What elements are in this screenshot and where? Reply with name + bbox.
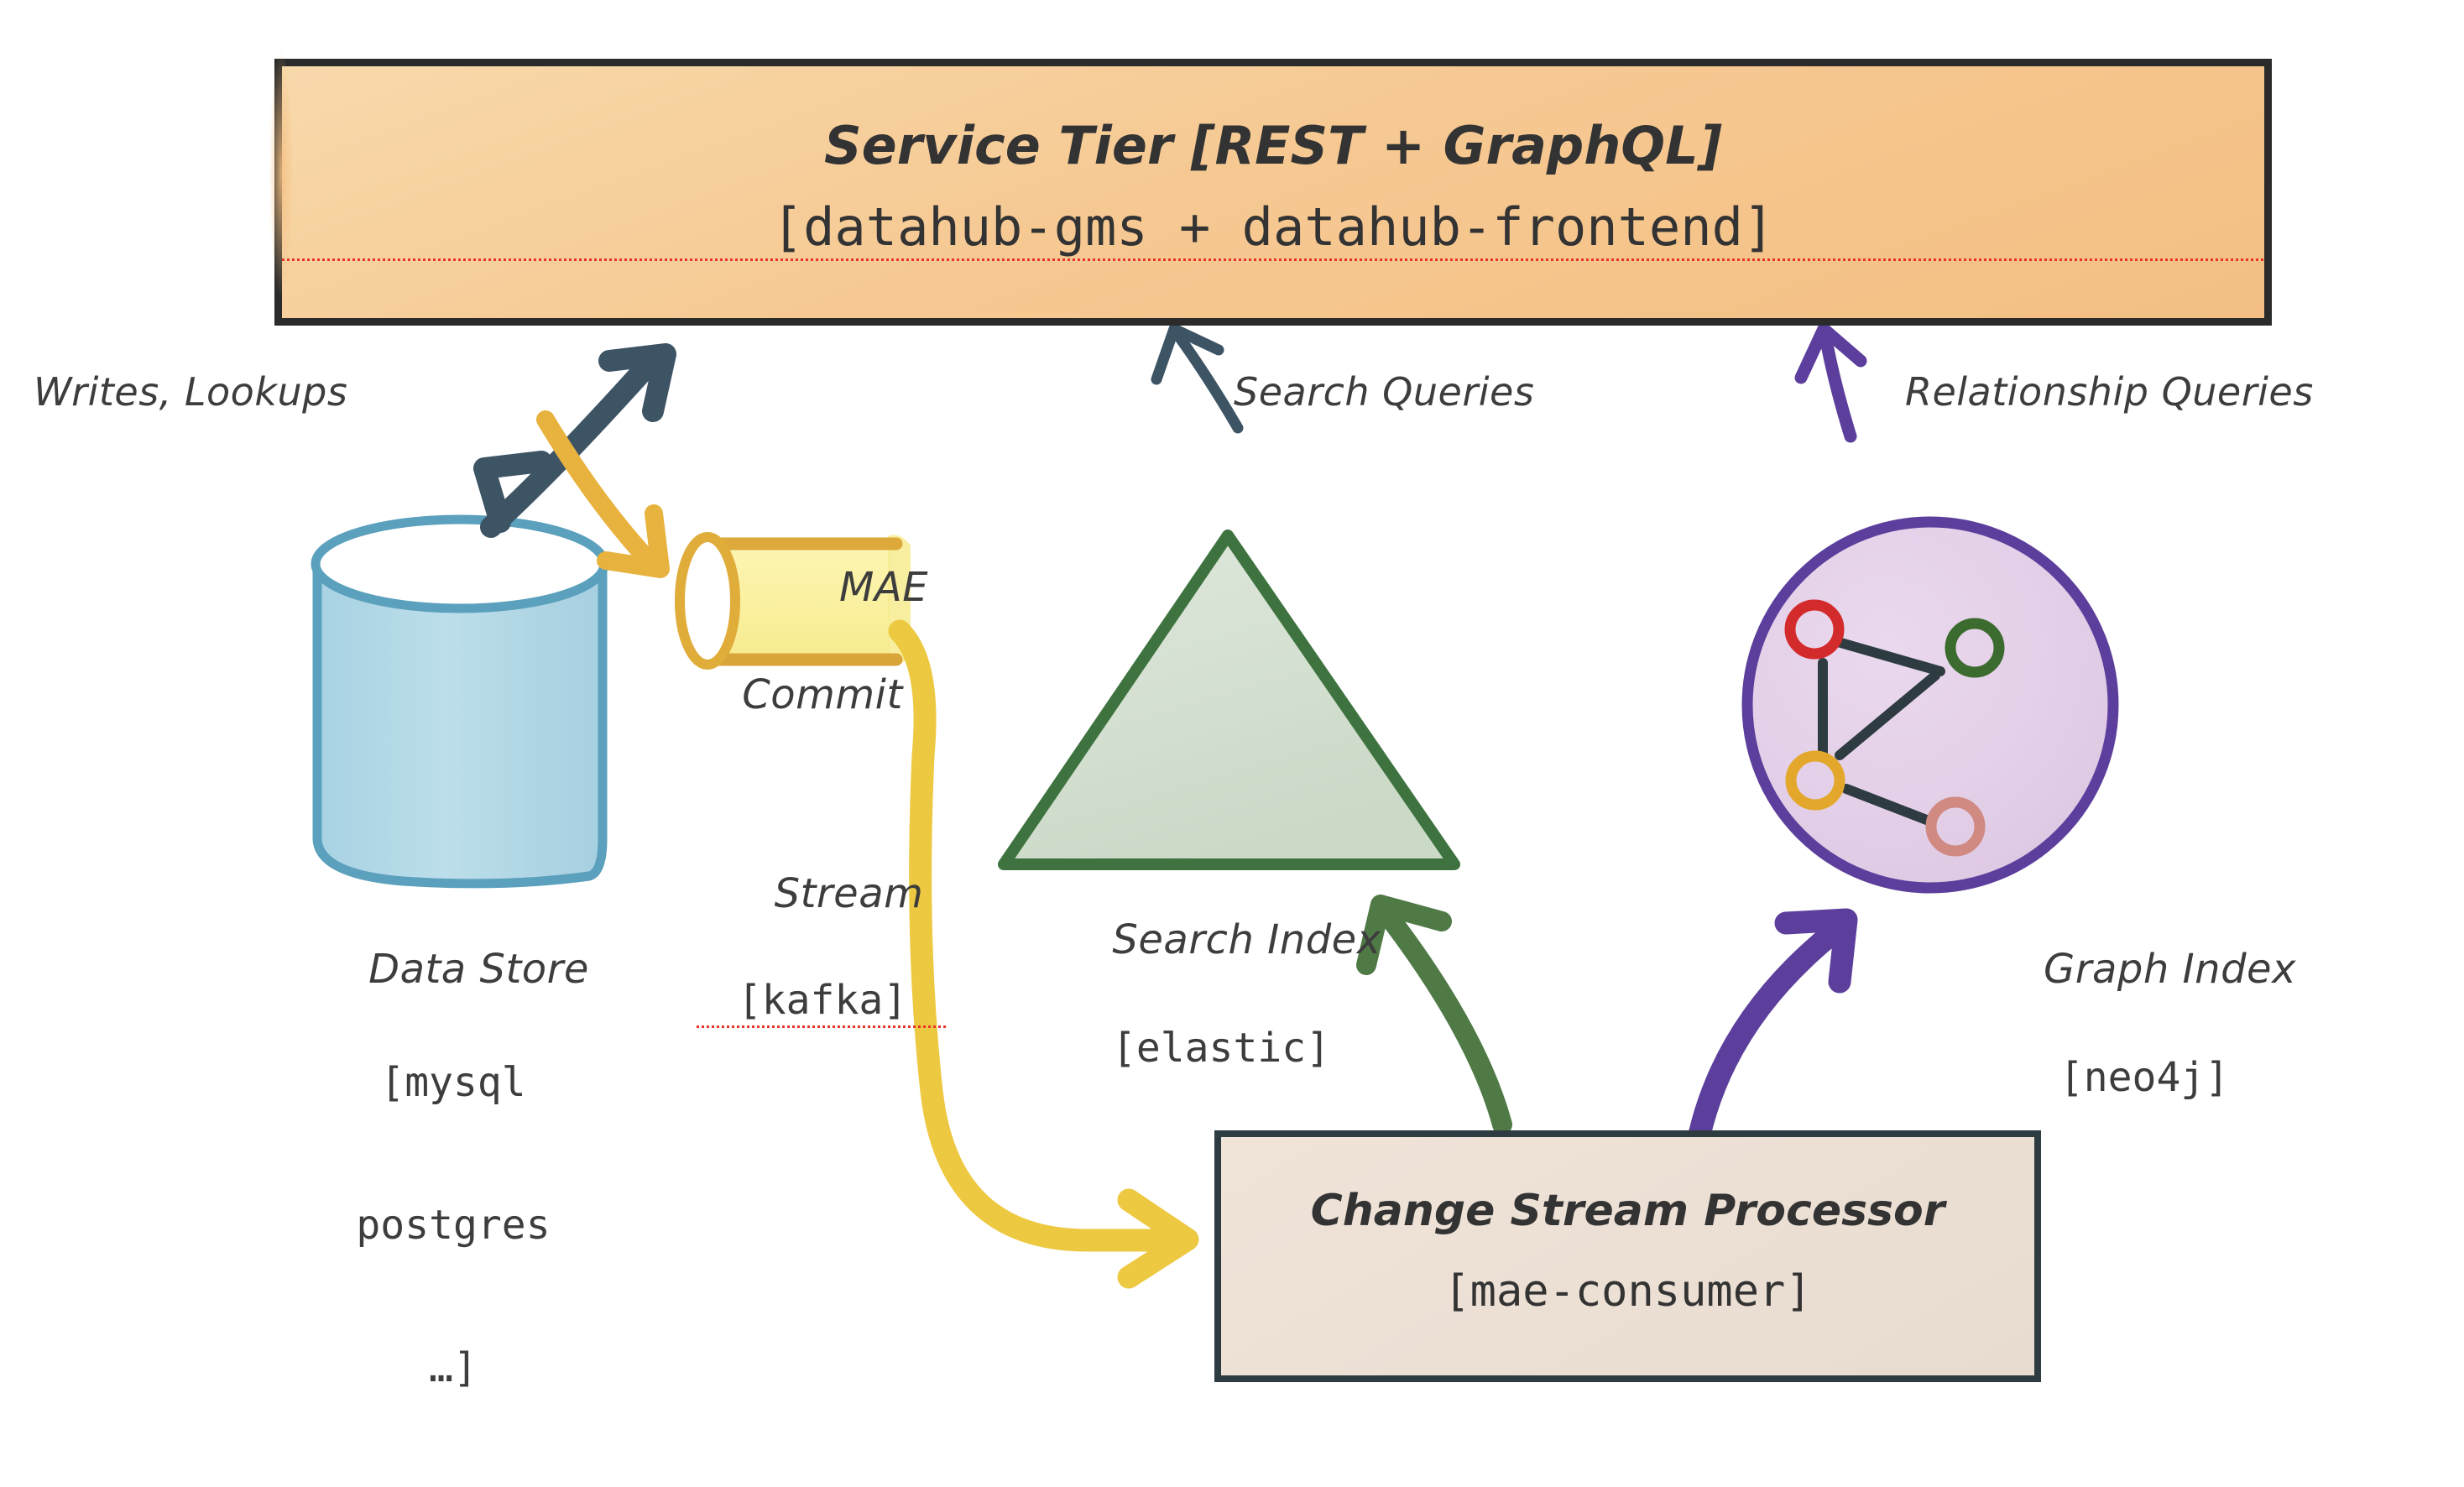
- search-index-label-group: Search Index [elastic]: [1020, 869, 1423, 1167]
- search-index-shape: [1004, 535, 1454, 864]
- data-store-label: Data Store: [368, 946, 589, 993]
- edge-label-search-queries: Search Queries: [1234, 369, 1534, 415]
- edge-search-queries: [1156, 329, 1238, 428]
- graph-index-label: Graph Index: [2044, 946, 2296, 993]
- graph-index-tech: [neo4j]: [1951, 1054, 2337, 1102]
- commit-stream-label-line2: Stream [kafka]: [697, 822, 948, 1123]
- diagram-canvas: Service Tier [REST + GraphQL] [datahub-g…: [0, 0, 2464, 1391]
- commit-stream-badge-mae: MAE: [839, 564, 928, 612]
- data-store-label-group: Data Store [mysql postgres …]: [277, 898, 629, 1487]
- commit-stream-label-stream: Stream: [775, 870, 924, 917]
- change-stream-processor-box[interactable]: Change Stream Processor [mae-consumer]: [1214, 1130, 2041, 1382]
- commit-stream-tech: [kafka]: [697, 977, 948, 1028]
- search-index-label: Search Index: [1112, 916, 1381, 963]
- edge-writes-lookups: [484, 354, 666, 527]
- edge-label-writes-lookups: Writes, Lookups: [34, 369, 347, 415]
- graph-index-label-group: Graph Index [neo4j]: [1951, 898, 2337, 1197]
- data-store-tech-2: postgres: [277, 1202, 629, 1250]
- commit-stream-label-line1: Commit: [697, 671, 948, 719]
- service-tier-box[interactable]: Service Tier [REST + GraphQL] [datahub-g…: [274, 59, 2272, 326]
- service-tier-title: Service Tier [REST + GraphQL]: [282, 115, 2264, 176]
- data-store-tech-1: [mysql: [277, 1059, 629, 1107]
- service-tier-text: Service Tier [REST + GraphQL] [datahub-g…: [282, 115, 2264, 261]
- data-store-tech-3: …]: [277, 1344, 629, 1392]
- graph-index-shape: [1747, 522, 2113, 888]
- edge-relationship-queries: [1801, 329, 1861, 436]
- processor-title: Change Stream Processor: [1221, 1186, 2034, 1236]
- service-tier-components: [datahub-gms + datahub-frontend]: [282, 196, 2264, 261]
- search-index-tech: [elastic]: [1020, 1025, 1423, 1072]
- data-store-shape: [316, 519, 604, 884]
- edge-label-relationship-queries: Relationship Queries: [1905, 369, 2314, 415]
- edge-processor-to-graph: [1694, 920, 1846, 1166]
- processor-component: [mae-consumer]: [1221, 1266, 2034, 1317]
